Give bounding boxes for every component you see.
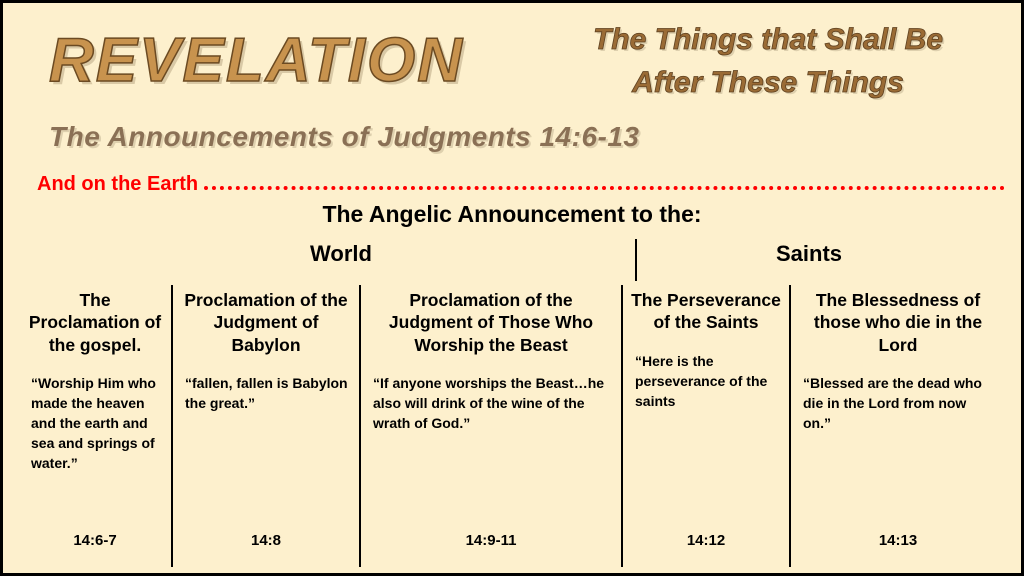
column-title: Proclamation of the Judgment of Babylon [181, 289, 351, 356]
group-label-saints: Saints [629, 241, 989, 267]
header-subtitle-right-line1: The Things that Shall Be [533, 19, 1003, 62]
page-title: REVELATION [49, 25, 464, 96]
column-quote: “Blessed are the dead who die in the Lor… [799, 374, 997, 434]
column-reference: 14:12 [623, 532, 789, 549]
earth-divider: And on the Earth [37, 171, 1005, 197]
column-blessedness-dead-in-lord: The Blessedness of those who die in the … [789, 285, 1005, 567]
column-reference: 14:9-11 [361, 532, 621, 549]
dotted-rule [204, 186, 1005, 190]
section-subtitle: The Announcements of Judgments 14:6-13 [49, 121, 640, 153]
column-reference: 14:6-7 [19, 532, 171, 549]
column-proclamation-gospel: The Proclamation of the gospel. “Worship… [19, 285, 171, 567]
group-label-world: World [171, 241, 511, 267]
column-quote: “fallen, fallen is Babylon the great.” [181, 374, 351, 414]
column-quote: “Here is the perseverance of the saints [631, 352, 781, 412]
column-title: Proclamation of the Judgment of Those Wh… [369, 289, 613, 356]
column-perseverance-saints: The Perseverance of the Saints “Here is … [621, 285, 789, 567]
group-divider-line [635, 239, 637, 281]
column-reference: 14:13 [791, 532, 1005, 549]
columns-container: The Proclamation of the gospel. “Worship… [19, 285, 1005, 567]
slide-root: REVELATION The Things that Shall Be Afte… [0, 0, 1024, 576]
header-subtitle-right: The Things that Shall Be After These Thi… [533, 19, 1003, 104]
column-title: The Proclamation of the gospel. [27, 289, 163, 356]
earth-label: And on the Earth [37, 173, 198, 196]
announcement-heading: The Angelic Announcement to the: [3, 201, 1021, 228]
header-subtitle-right-line2: After These Things [533, 62, 1003, 105]
column-title: The Perseverance of the Saints [631, 289, 781, 334]
column-quote: “If anyone worships the Beast…he also wi… [369, 374, 613, 434]
column-reference: 14:8 [173, 532, 359, 549]
column-judgment-babylon: Proclamation of the Judgment of Babylon … [171, 285, 359, 567]
column-judgment-beast-worshipers: Proclamation of the Judgment of Those Wh… [359, 285, 621, 567]
slide-header: REVELATION The Things that Shall Be Afte… [3, 3, 1021, 171]
column-title: The Blessedness of those who die in the … [799, 289, 997, 356]
group-heading-row: World Saints [19, 241, 1005, 279]
column-quote: “Worship Him who made the heaven and the… [27, 374, 163, 473]
